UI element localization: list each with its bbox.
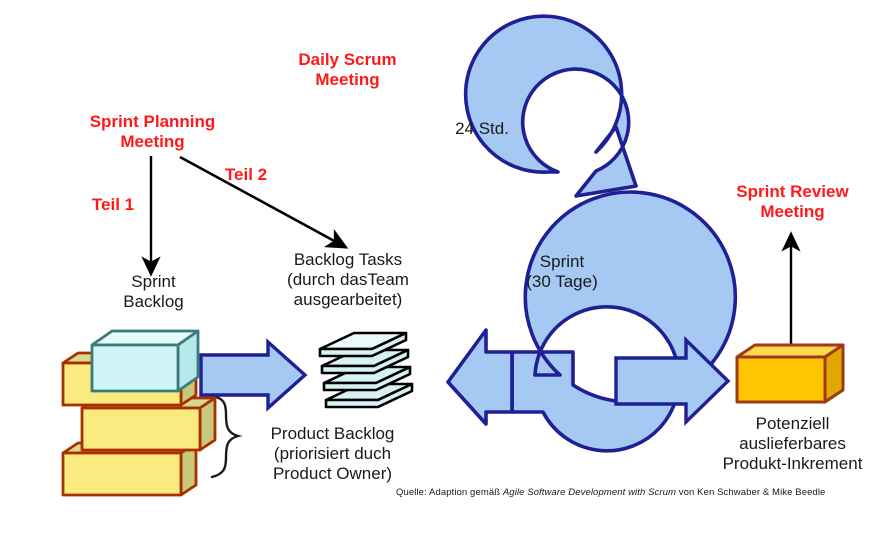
paper-stack-backlog-tasks — [320, 333, 412, 407]
citation-suffix: von Ken Schwaber & Mike Beedle — [676, 487, 825, 498]
cycle-arrow-24h — [466, 16, 636, 196]
label-sprint-backlog: Sprint Backlog — [96, 272, 211, 312]
source-citation: Quelle: Adaption gemäß Agile Software De… — [396, 487, 825, 498]
label-teil-2: Teil 2 — [211, 165, 281, 185]
label-product-backlog: Product Backlog (priorisiert duch Produc… — [240, 424, 425, 484]
product-increment-box — [737, 345, 843, 402]
label-teil-1: Teil 1 — [78, 195, 148, 215]
label-sprint-planning-meeting: Sprint Planning Meeting — [75, 112, 230, 152]
citation-work-title: Agile Software Development with Scrum — [503, 487, 676, 498]
label-backlog-tasks: Backlog Tasks (durch dasTeam ausgearbeit… — [263, 250, 433, 310]
scrum-diagram-canvas: Sprint Planning Meeting Daily Scrum Meet… — [0, 0, 885, 543]
label-sprint-cycle: Sprint (30 Tage) — [497, 252, 627, 292]
label-sprint-review-meeting: Sprint Review Meeting — [715, 182, 870, 222]
label-cycle-24h: 24 Std. — [422, 119, 542, 139]
label-product-increment: Potenziell auslieferbares Produkt-Inkrem… — [700, 414, 885, 474]
citation-prefix: Quelle: Adaption gemäß — [396, 487, 503, 498]
sprint-backlog-box — [92, 331, 198, 391]
label-daily-scrum-meeting: Daily Scrum Meeting — [270, 50, 425, 90]
